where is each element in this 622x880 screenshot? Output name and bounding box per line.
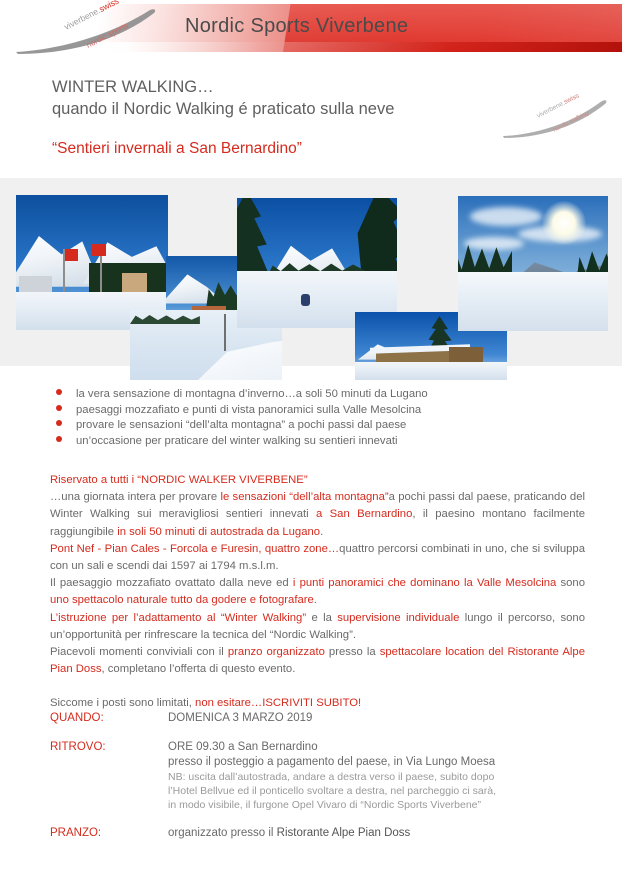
list-item: provare le sensazioni “dell’alta montagn… (56, 419, 428, 431)
detail-label-quando: QUANDO: (50, 711, 168, 726)
detail-value-quando: DOMENICA 3 MARZO 2019 (168, 711, 312, 726)
p5-part-e: , completano l’offerta di questo evento. (102, 663, 296, 675)
p4-part-a: L’istruzione per l’adattamento al “Winte… (50, 612, 306, 624)
detail-value-quando-text: DOMENICA 3 MARZO 2019 (168, 711, 312, 726)
list-item-label: la vera sensazione di montagna d’inverno… (76, 388, 428, 400)
body-copy: Riservato a tutti i “NORDIC WALKER VIVER… (50, 472, 585, 713)
bullet-dot-icon (56, 389, 62, 395)
p1-part-f: in soli 50 minuti di autostrada da Lugan… (117, 526, 320, 538)
highlights-list: la vera sensazione di montagna d’inverno… (56, 388, 428, 450)
body-paragraph-1: …una giornata intera per provare le sens… (50, 489, 585, 541)
p1-part-b: le sensazioni “dell’alta montagna” (220, 491, 388, 503)
detail-label-pranzo: PRANZO: (50, 826, 168, 841)
p3-part-b: i punti panoramici che dominano la Valle… (293, 577, 556, 589)
body-paragraph-3: Il paesaggio mozzafiato ovattato dalla n… (50, 575, 585, 609)
photo-snowfield-pines (237, 198, 397, 328)
body-paragraph-5: Piacevoli momenti conviviali con il pran… (50, 644, 585, 678)
detail-value-ritrovo-text: ORE 09.30 a San Bernardino (168, 740, 496, 755)
list-item-label: paesaggi mozzafiato e punti di vista pan… (76, 404, 421, 416)
detail-value-pranzo-prefix: organizzato presso il (168, 827, 277, 839)
body-intro-text: Riservato a tutti i “NORDIC WALKER VIVER… (50, 474, 308, 486)
bullet-dot-icon (56, 420, 62, 426)
detail-note-line-3: in modo visibile, il furgone Opel Vivaro… (168, 798, 496, 812)
page-subtitle: “Sentieri invernali a San Bernardino” (52, 140, 302, 158)
p1-part-g: . (320, 526, 323, 538)
p3-part-d: uno spettacolo naturale tutto da godere … (50, 594, 314, 606)
p5-part-b: pranzo organizzato (228, 646, 325, 658)
p3-part-a: Il paesaggio mozzafiato ovattato dalla n… (50, 577, 293, 589)
bullet-dot-icon (56, 405, 62, 411)
p4-part-b: e la (306, 612, 337, 624)
body-paragraph-2: Pont Nef - Pian Cales - Forcola e Furesi… (50, 541, 585, 575)
detail-value-pranzo: organizzato presso il Ristorante Alpe Pi… (168, 826, 410, 841)
detail-value-pranzo-restaurant: Ristorante Alpe Pian Doss (277, 827, 411, 839)
list-item: la vera sensazione di montagna d’inverno… (56, 388, 428, 400)
page-title-block: WINTER WALKING… quando il Nordic Walking… (52, 76, 394, 120)
photo-sun-over-valley (458, 196, 608, 331)
p6-part-a: Siccome i posti sono limitati, (50, 697, 195, 709)
p3-part-e: . (314, 594, 317, 606)
viverbene-nordic-sports-logo: viverbene.swiss nordic sports (14, 4, 174, 56)
list-item-label: provare le sensazioni “dell’alta montagn… (76, 419, 406, 431)
title-line-2: quando il Nordic Walking é praticato sul… (52, 98, 394, 120)
event-details: QUANDO: DOMENICA 3 MARZO 2019 RITROVO: O… (50, 711, 595, 855)
detail-value-ritrovo: ORE 09.30 a San Bernardino presso il pos… (168, 740, 496, 812)
detail-label-ritrovo: RITROVO: (50, 740, 168, 812)
p5-part-c: presso la (325, 646, 380, 658)
p1-part-d: a San Bernardino (316, 508, 412, 520)
body-spacer (50, 678, 585, 695)
p5-part-a: Piacevoli momenti conviviali con il (50, 646, 228, 658)
p1-part-a: …una giornata intera per provare (50, 491, 220, 503)
walking-logo-line2-text: nordic walking (552, 109, 591, 133)
bullet-dot-icon (56, 436, 62, 442)
header-title: Nordic Sports Viverbene (185, 15, 408, 38)
body-paragraph-4: L’istruzione per l’adattamento al “Winte… (50, 610, 585, 644)
photo-collage-band (0, 178, 622, 366)
logo-line2-text: nordic sports (85, 21, 130, 50)
detail-value-ritrovo-line-1: presso il posteggio a pagamento del paes… (168, 755, 496, 770)
detail-row-ritrovo: RITROVO: ORE 09.30 a San Bernardino pres… (50, 740, 595, 812)
title-line-1: WINTER WALKING… (52, 76, 394, 98)
detail-row-quando: QUANDO: DOMENICA 3 MARZO 2019 (50, 711, 595, 726)
body-intro-line: Riservato a tutti i “NORDIC WALKER VIVER… (50, 472, 585, 489)
detail-row-pranzo: PRANZO: organizzato presso il Ristorante… (50, 826, 595, 841)
list-item-label: un’occasione per praticare del winter wa… (76, 435, 398, 447)
p3-part-c: sono (556, 577, 585, 589)
list-item: un’occasione per praticare del winter wa… (56, 435, 428, 447)
detail-note-line-1: NB: uscita dall’autostrada, andare a des… (168, 770, 496, 784)
p6-part-b: non esitare…ISCRIVITI SUBITO! (195, 697, 361, 709)
detail-note-line-2: l’Hotel Bellvue ed il ponticello svoltar… (168, 784, 496, 798)
list-item: paesaggi mozzafiato e punti di vista pan… (56, 404, 428, 416)
p4-part-c: supervisione individuale (337, 612, 459, 624)
p2-part-a: Pont Nef - Pian Cales - Forcola e Furesi… (50, 543, 339, 555)
viverbene-nordic-walking-logo: viverbene.swiss nordic walking (502, 96, 620, 142)
